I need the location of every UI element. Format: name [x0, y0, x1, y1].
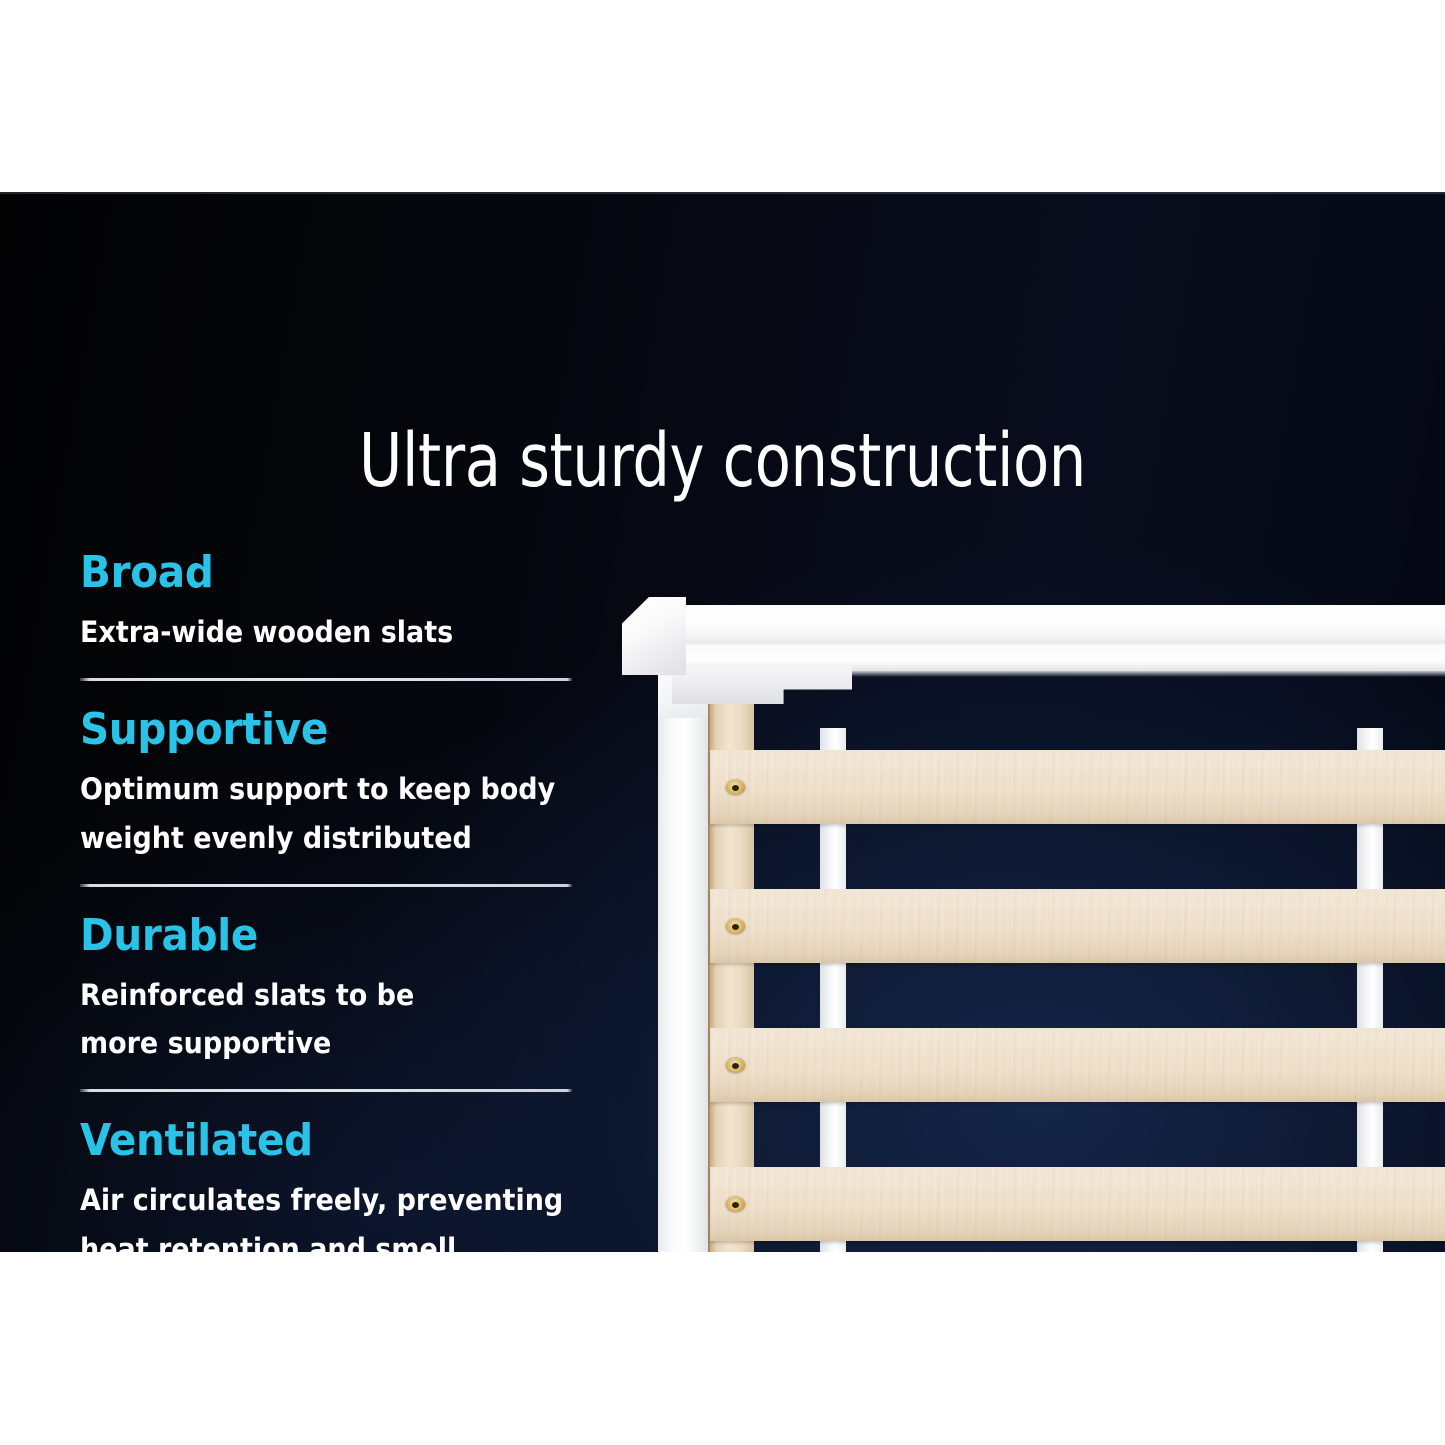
wood-grain [710, 750, 1445, 824]
feature-heading: Supportive [80, 707, 540, 753]
page-title: Ultra sturdy construction [145, 424, 1301, 498]
feature-item-supportive: Supportive Optimum support to keep body … [80, 707, 580, 913]
feature-heading: Ventilated [80, 1118, 540, 1164]
wood-grain [710, 1167, 1445, 1241]
feature-description: Air circulates freely, preventing heat r… [80, 1176, 545, 1252]
feature-description-line: more supportive [80, 1019, 545, 1068]
feature-description-line: Reinforced slats to be [80, 971, 545, 1020]
feature-item-ventilated: Ventilated Air circulates freely, preven… [80, 1118, 580, 1252]
dark-banner-panel: Broad Extra-wide wooden slats Supportive… [0, 192, 1445, 1252]
feature-description-line: Air circulates freely, preventing [80, 1176, 545, 1225]
feature-description: Optimum support to keep body weight even… [80, 765, 545, 862]
wooden-slat [710, 1028, 1445, 1102]
wooden-slat [710, 889, 1445, 963]
feature-list: Broad Extra-wide wooden slats Supportive… [80, 550, 580, 1252]
frame-leg-post [658, 662, 710, 1252]
brass-screw-icon [726, 1197, 745, 1212]
wooden-slat [710, 1167, 1445, 1241]
feature-description-line: heat retention and smell [80, 1225, 545, 1252]
feature-heading: Broad [80, 550, 540, 596]
feature-description-line: Optimum support to keep body [80, 765, 545, 814]
feature-item-broad: Broad Extra-wide wooden slats [80, 550, 580, 707]
bed-frame-slats-photo [612, 588, 1445, 1252]
infographic-canvas: Broad Extra-wide wooden slats Supportive… [0, 0, 1445, 1445]
brass-screw-icon [726, 780, 745, 795]
rail-bracket-underside [672, 666, 852, 704]
feature-description: Extra-wide wooden slats [80, 608, 545, 657]
feature-heading: Durable [80, 913, 540, 959]
rail-corner-cap [622, 597, 686, 675]
feature-item-durable: Durable Reinforced slats to be more supp… [80, 913, 580, 1119]
feature-description: Reinforced slats to be more supportive [80, 971, 545, 1068]
wood-grain [710, 1028, 1445, 1102]
feature-description-line: weight evenly distributed [80, 814, 545, 863]
wooden-slat [710, 750, 1445, 824]
brass-screw-icon [726, 1058, 745, 1073]
feature-description-line: Extra-wide wooden slats [80, 608, 545, 657]
wood-grain [710, 889, 1445, 963]
frame-top-rail [660, 605, 1445, 671]
brass-screw-icon [726, 919, 745, 934]
